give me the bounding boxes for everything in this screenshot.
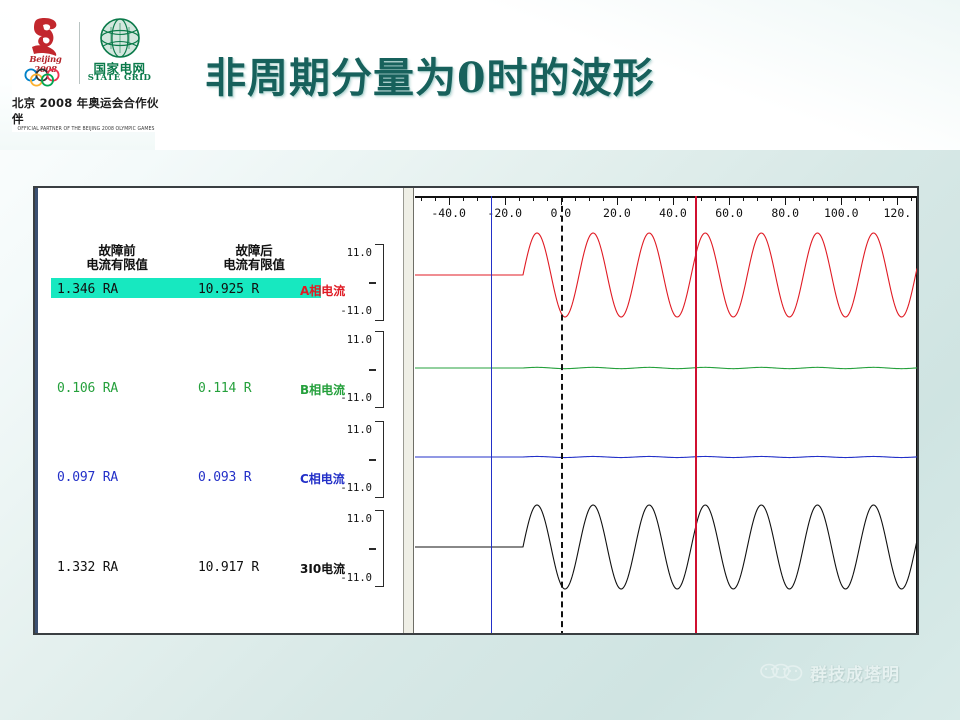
scale-bracket-3i0 — [375, 510, 384, 587]
watermark-text: 群技成塔明 — [810, 660, 900, 685]
scale-bracket-tick-a — [369, 282, 376, 284]
wechat-bubbles-icon — [760, 662, 806, 684]
scale-bracket-tick-3i0 — [369, 548, 376, 550]
scale-bracket-tick-b — [369, 369, 376, 371]
beijing-2008-seal-icon — [30, 17, 62, 57]
logo-caption-en: OFFICIAL PARTNER OF THE BEIJING 2008 OLY… — [18, 127, 155, 133]
cursor-blue[interactable] — [491, 196, 493, 633]
scale-bracket-a — [375, 244, 384, 321]
table-header-pre-fault-line2: 电流有限值 — [53, 258, 181, 272]
watermark: 群技成塔明 — [760, 660, 900, 685]
scale-max-a: 11.0 — [328, 247, 372, 259]
table-row[interactable]: 1.332 RA — [57, 560, 187, 575]
scale-bracket-b — [375, 331, 384, 408]
scale-min-c: -11.0 — [328, 482, 372, 494]
logo-caption-cn: 北京 2008 年奥运会合作伙伴 — [12, 95, 160, 127]
state-grid-logo: 国家电网 STATE GRID — [84, 14, 156, 92]
logo-divider — [79, 22, 80, 84]
table-row[interactable]: 0.106 RA — [57, 381, 187, 396]
sponsor-logo: Beijing 2008 — [12, 10, 160, 132]
state-grid-globe-icon — [97, 15, 143, 59]
scale-max-3i0: 11.0 — [328, 513, 372, 525]
table-header-post-fault: 故障后 电流有限值 — [190, 244, 318, 272]
panel-splitter[interactable] — [403, 188, 414, 633]
table-header-pre-fault: 故障前 电流有限值 — [53, 244, 181, 272]
state-grid-name-en: STATE GRID — [84, 73, 156, 83]
cursor-red[interactable] — [695, 196, 697, 633]
table-row[interactable]: 0.097 RA — [57, 470, 187, 485]
scale-bracket-c — [375, 421, 384, 498]
channel-label-a: A相电流 — [300, 282, 345, 299]
logo-marks-row: Beijing 2008 — [17, 14, 156, 92]
olympic-logo: Beijing 2008 — [17, 15, 75, 91]
scale-min-b: -11.0 — [328, 392, 372, 404]
scale-max-c: 11.0 — [328, 424, 372, 436]
scale-min-a: -11.0 — [328, 305, 372, 317]
page-title: 非周期分量为0时的波形 — [205, 44, 655, 104]
waveform-screenshot-panel: 故障前 电流有限值 故障后 电流有限值 1.346 RA 10.925 R 0.… — [33, 186, 919, 635]
scale-max-b: 11.0 — [328, 334, 372, 346]
cursor-dashed[interactable] — [561, 196, 563, 633]
measurement-table: 故障前 电流有限值 故障后 电流有限值 1.346 RA 10.925 R 0.… — [38, 188, 403, 633]
table-header-pre-fault-line1: 故障前 — [53, 244, 181, 258]
waveform-chart: -40.0-20.00.020.040.060.080.0100.0120. — [415, 188, 917, 633]
table-row[interactable]: 1.346 RA — [57, 282, 187, 297]
scale-bracket-tick-c — [369, 459, 376, 461]
table-header-post-fault-line2: 电流有限值 — [190, 258, 318, 272]
olympic-rings-icon — [23, 67, 69, 87]
slide-canvas: Beijing 2008 — [0, 0, 960, 720]
table-header-post-fault-line1: 故障后 — [190, 244, 318, 258]
scale-min-3i0: -11.0 — [328, 572, 372, 584]
